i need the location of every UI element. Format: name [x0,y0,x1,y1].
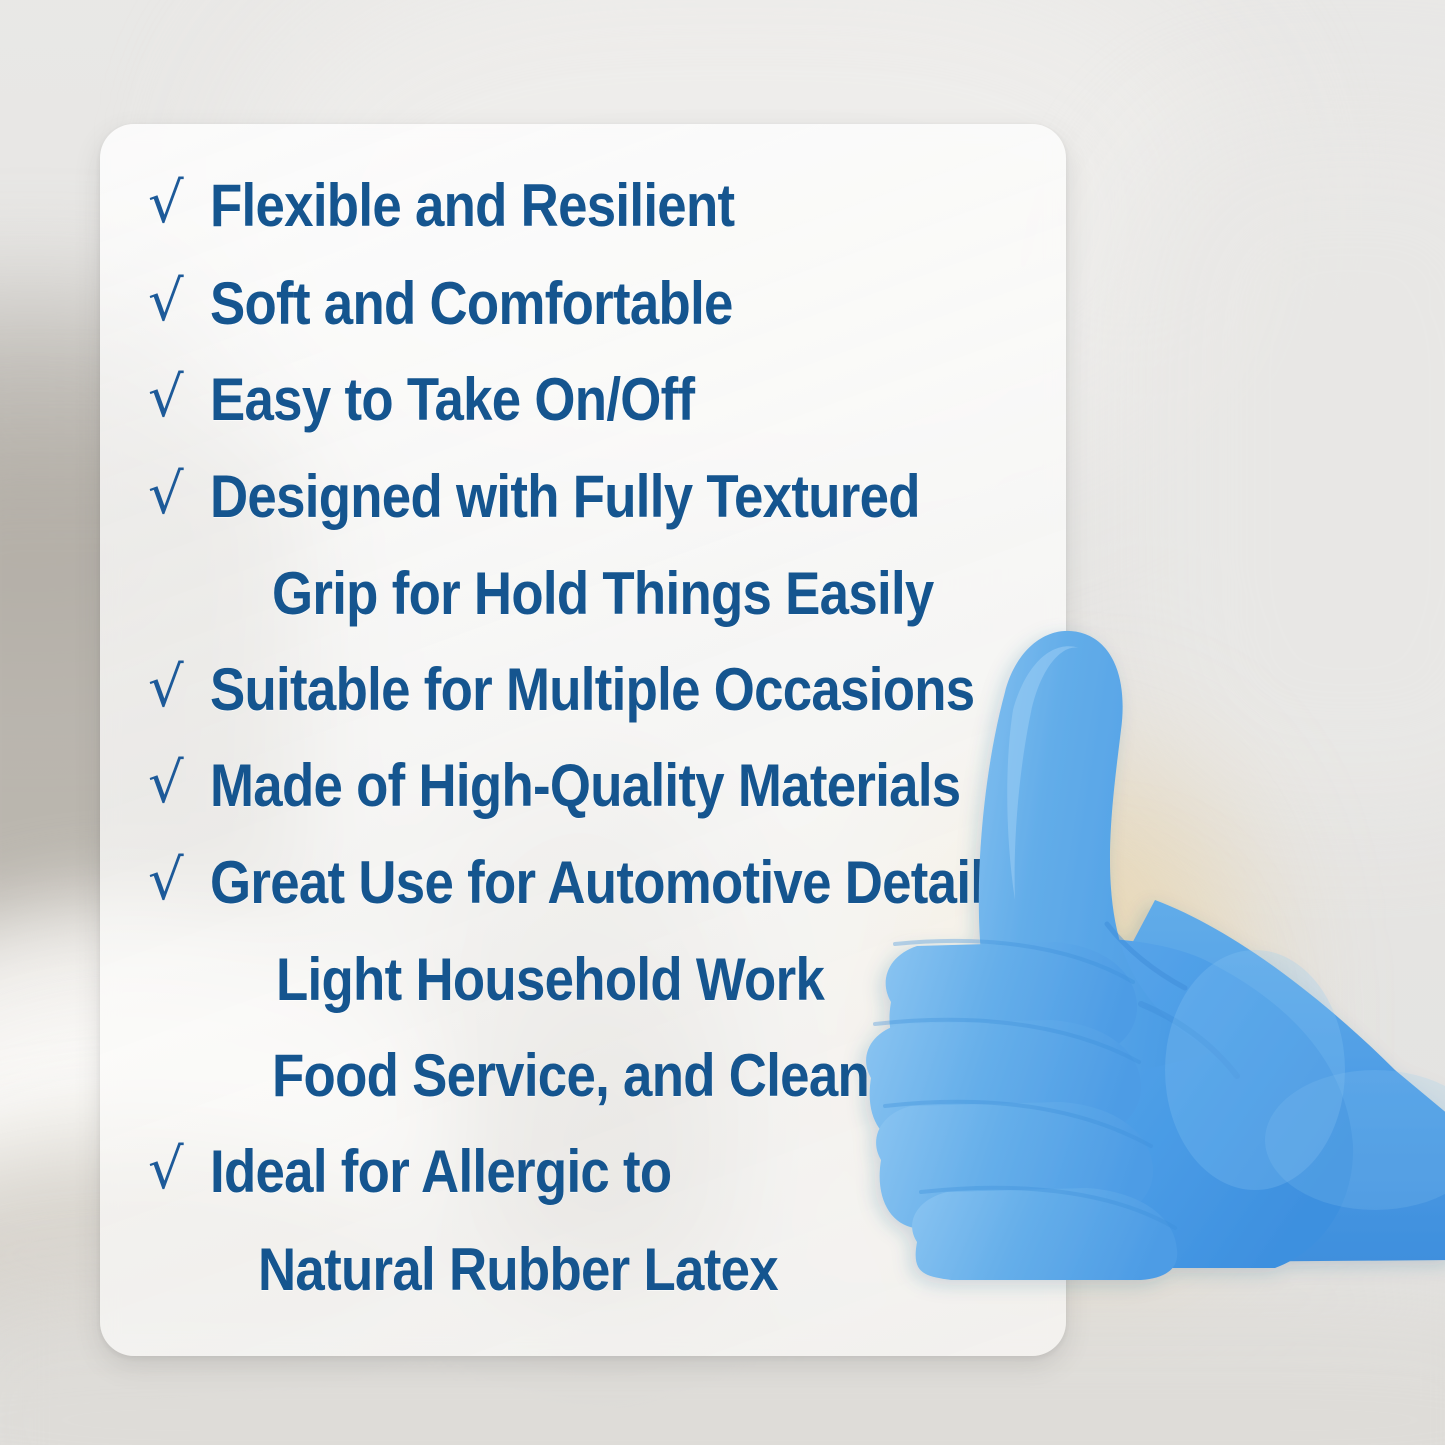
check-icon: √ [148,756,210,812]
feature-item: √Designed with Fully Textured [148,467,1017,527]
check-icon: √ [148,853,210,909]
thumbs-up-gloved-hand [855,600,1445,1280]
feature-label: Easy to Take On/Off [210,370,694,430]
feature-item: √Soft and Comfortable [148,274,804,334]
feature-label: Grip for Hold Things Easily [272,564,934,624]
glove-finger-pinky [912,1188,1177,1280]
check-icon: √ [148,274,210,330]
feature-label: Food Service, and Cleaning [272,1046,946,1106]
feature-item: √Easy to Take On/Off [148,370,761,430]
check-icon: √ [148,660,210,716]
feature-label: Natural Rubber Latex [258,1240,778,1300]
feature-label: Soft and Comfortable [210,274,733,334]
feature-label: Made of High-Quality Materials [210,756,960,816]
feature-label: Designed with Fully Textured [210,467,920,527]
check-icon: √ [148,467,210,523]
feature-label: Flexible and Resilient [210,176,734,236]
feature-label: Ideal for Allergic to [210,1142,671,1202]
feature-item-continuation: Natural Rubber Latex [196,1240,849,1300]
check-icon: √ [148,176,210,232]
feature-label: Light Household Work [276,950,824,1010]
check-icon: √ [148,1142,210,1198]
feature-item: √Flexible and Resilient [148,176,806,236]
check-icon: √ [148,370,210,426]
feature-item-continuation: Light Household Work [214,950,899,1010]
infographic-canvas: √Flexible and Resilient√Soft and Comfort… [0,0,1445,1445]
feature-item: √Ideal for Allergic to [148,1142,734,1202]
